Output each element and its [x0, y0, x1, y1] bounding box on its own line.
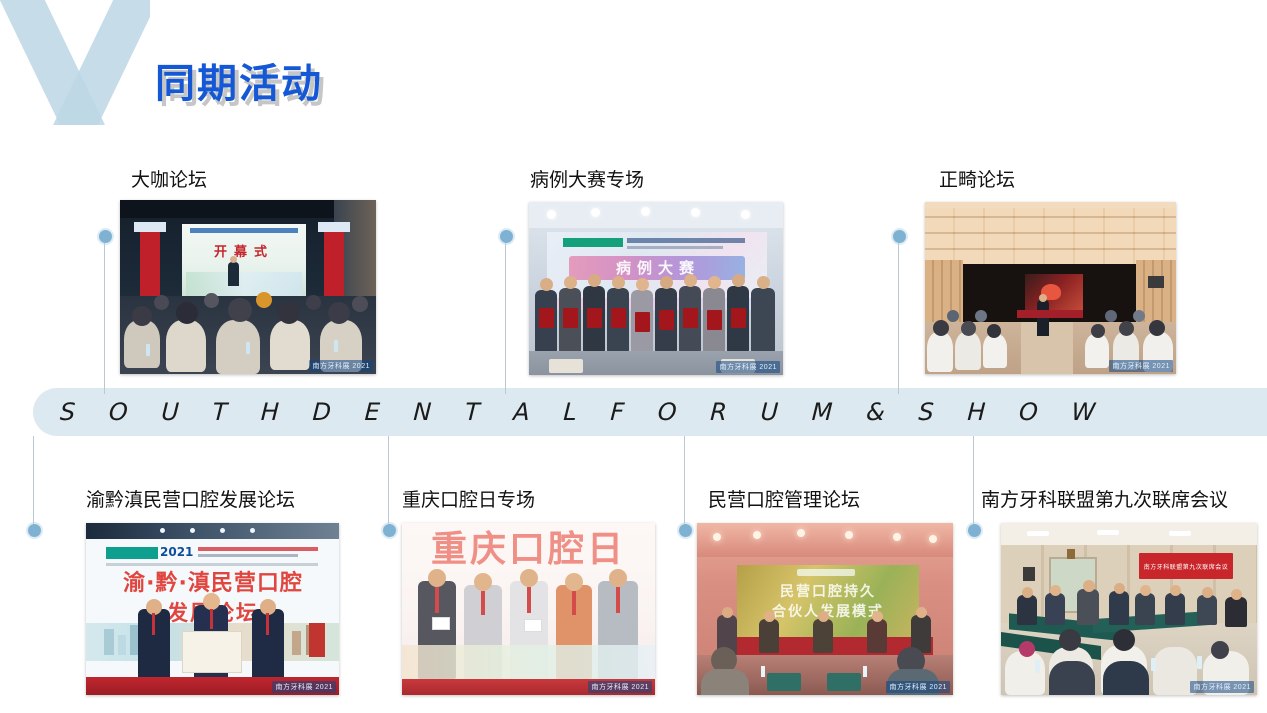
photo-scene: 南方牙科联盟第九次联席会议: [1001, 523, 1257, 695]
connector-dot: [383, 524, 396, 537]
photo-badge: 南方牙科展 2021: [1109, 360, 1173, 372]
card-label: 渝黔滇民营口腔发展论坛: [86, 490, 295, 511]
photo-badge: 南方牙科展 2021: [716, 361, 780, 373]
photo-dakalun-tan[interactable]: 开幕式: [120, 200, 376, 374]
card-label: 大咖论坛: [131, 170, 207, 191]
center-banner-text: S O U T H D E N T A L F O R U M & S H O …: [32, 398, 1109, 426]
connector-dot: [968, 524, 981, 537]
connector-line: [104, 236, 105, 394]
card-top-1[interactable]: 大咖论坛: [131, 170, 207, 191]
photo-badge: 南方牙科展 2021: [886, 681, 950, 693]
page-title-text: 同期活动: [155, 64, 323, 104]
card-bottom-2[interactable]: 重庆口腔日专场: [402, 490, 535, 511]
photo-scene: 民营口腔持久 合伙人发展模式: [697, 523, 953, 695]
photo-minying-guanli[interactable]: 民营口腔持久 合伙人发展模式 南方牙科展 202: [697, 523, 953, 695]
connector-line: [684, 436, 685, 524]
photo-scene: 2021 渝·黔·滇民营口腔 发展论坛: [86, 523, 339, 695]
card-bottom-3[interactable]: 民营口腔管理论坛: [708, 490, 860, 511]
photo-badge: 南方牙科展 2021: [1190, 681, 1254, 693]
photo-yuqiandian[interactable]: 2021 渝·黔·滇民营口腔 发展论坛: [86, 523, 339, 695]
card-bottom-1[interactable]: 渝黔滇民营口腔发展论坛: [86, 490, 295, 511]
photo-scene: [925, 202, 1176, 374]
photo-badge: 南方牙科展 2021: [588, 681, 652, 693]
v-shape-logo: [0, 0, 150, 125]
photo-chongqing-kouqiangri[interactable]: 重庆口腔日 南方牙科展 2021: [402, 523, 655, 695]
connector-line: [505, 236, 506, 394]
connector-line: [388, 436, 389, 524]
photo-badge: 南方牙科展 2021: [309, 360, 373, 372]
connector-line: [33, 436, 34, 524]
photo-zhengji-luntan[interactable]: 南方牙科展 2021: [925, 202, 1176, 374]
photo-nanfang-lianmeng[interactable]: 南方牙科联盟第九次联席会议: [1001, 523, 1257, 695]
card-top-3[interactable]: 正畸论坛: [939, 170, 1015, 191]
photo-badge: 南方牙科展 2021: [272, 681, 336, 693]
photo-scene: 开幕式: [120, 200, 376, 374]
card-label: 重庆口腔日专场: [402, 490, 535, 511]
card-label: 南方牙科联盟第九次联席会议: [981, 490, 1228, 511]
connector-dot: [679, 524, 692, 537]
photo-scene: 病例大赛: [529, 202, 783, 375]
card-label: 正畸论坛: [939, 170, 1015, 191]
card-label: 民营口腔管理论坛: [708, 490, 860, 511]
card-bottom-4[interactable]: 南方牙科联盟第九次联席会议: [981, 490, 1228, 511]
slide-root: 同期活动 同期活动 S O U T H D E N T A L F O R U …: [0, 0, 1267, 713]
connector-line: [973, 436, 974, 524]
connector-dot: [99, 230, 112, 243]
connector-dot: [500, 230, 513, 243]
card-top-2[interactable]: 病例大赛专场: [530, 170, 644, 191]
connector-dot: [893, 230, 906, 243]
connector-line: [898, 236, 899, 394]
center-banner: S O U T H D E N T A L F O R U M & S H O …: [33, 388, 1267, 436]
photo-binglidasai[interactable]: 病例大赛: [529, 202, 783, 375]
photo-scene: 重庆口腔日: [402, 523, 655, 695]
card-label: 病例大赛专场: [530, 170, 644, 191]
page-title: 同期活动 同期活动: [155, 64, 323, 104]
connector-dot: [28, 524, 41, 537]
